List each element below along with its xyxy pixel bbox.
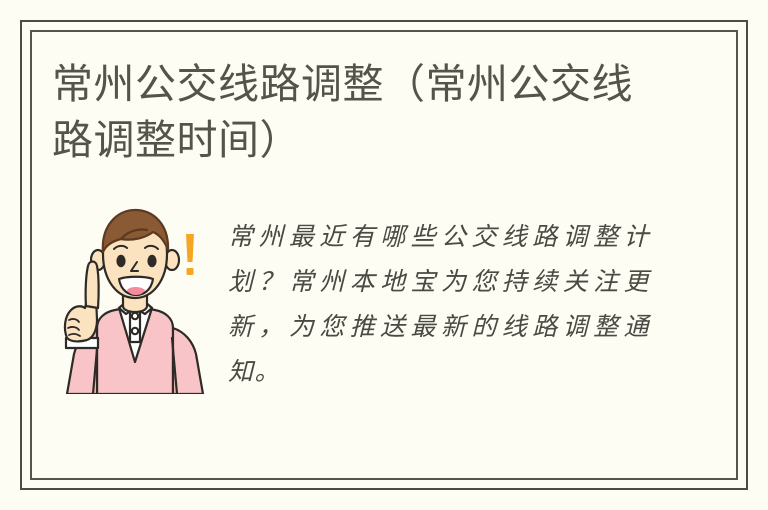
article-body: 常州最近有哪些公交线路调整计划？常州本地宝为您持续关注更新，为您推送最新的线路调… [228, 214, 650, 394]
page-title: 常州公交线路调整（常州公交线路调整时间） [52, 56, 672, 168]
article-card: 常州公交线路调整（常州公交线路调整时间） [0, 0, 768, 510]
exclamation-mark-icon [186, 234, 194, 275]
illustration-man-pointing [57, 202, 213, 394]
man-pointing-icon [57, 202, 213, 394]
